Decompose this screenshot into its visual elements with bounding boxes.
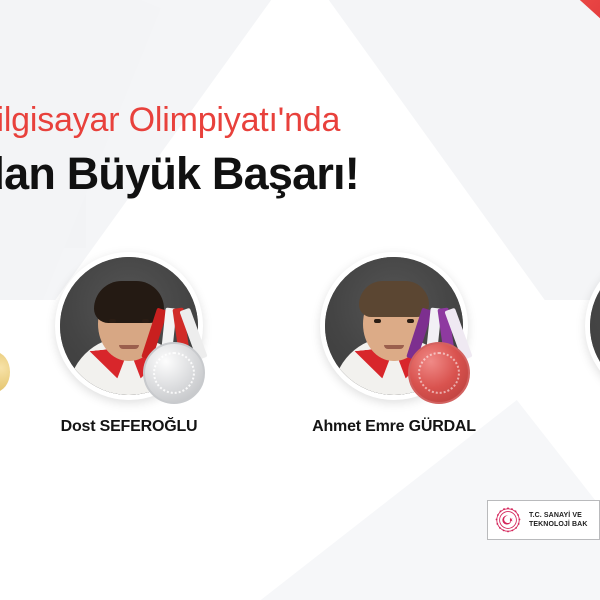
ministry-logo-line-1: T.C. SANAYİ VE — [529, 511, 587, 520]
portrait-eye-left — [109, 319, 116, 323]
winner-card: Yun — [573, 252, 600, 436]
portrait-mouth — [119, 345, 139, 349]
winner-card: Ahmet Emre GÜRDAL — [308, 252, 480, 436]
winners-row: Dost SEFEROĞLU — [0, 252, 600, 462]
portrait-mouth — [384, 345, 404, 349]
ministry-logo: T.C. SANAYİ VE TEKNOLOJİ BAK — [487, 500, 600, 540]
portrait-backdrop — [590, 257, 600, 395]
headline-line-1: Bilgisayar Olimpiyatı'nda — [0, 98, 470, 142]
portrait-eye-right — [142, 319, 149, 323]
portrait-hair — [94, 281, 164, 323]
avatar — [320, 252, 468, 400]
ministry-gear-icon — [494, 506, 522, 534]
portrait-eye-left — [374, 319, 381, 323]
ministry-logo-text: T.C. SANAYİ VE TEKNOLOJİ BAK — [529, 511, 587, 529]
avatar-photo — [60, 257, 198, 395]
winner-card: Dost SEFEROĞLU — [43, 252, 215, 436]
avatar — [585, 252, 600, 400]
headline-block: Bilgisayar Olimpiyatı'nda ızdan Büyük Ba… — [0, 98, 470, 202]
headline-line-2: ızdan Büyük Başarı! — [0, 146, 470, 202]
winner-name: Dost SEFEROĞLU — [43, 418, 215, 436]
avatar-photo — [590, 257, 600, 395]
portrait-hair — [359, 281, 429, 317]
avatar — [55, 252, 203, 400]
poster-canvas: Bilgisayar Olimpiyatı'nda ızdan Büyük Ba… — [0, 0, 600, 600]
ministry-logo-line-2: TEKNOLOJİ BAK — [529, 520, 587, 529]
winner-name: Yun — [573, 418, 600, 436]
portrait-eye-right — [407, 319, 414, 323]
winner-name: Ahmet Emre GÜRDAL — [308, 418, 480, 436]
avatar-photo — [325, 257, 463, 395]
